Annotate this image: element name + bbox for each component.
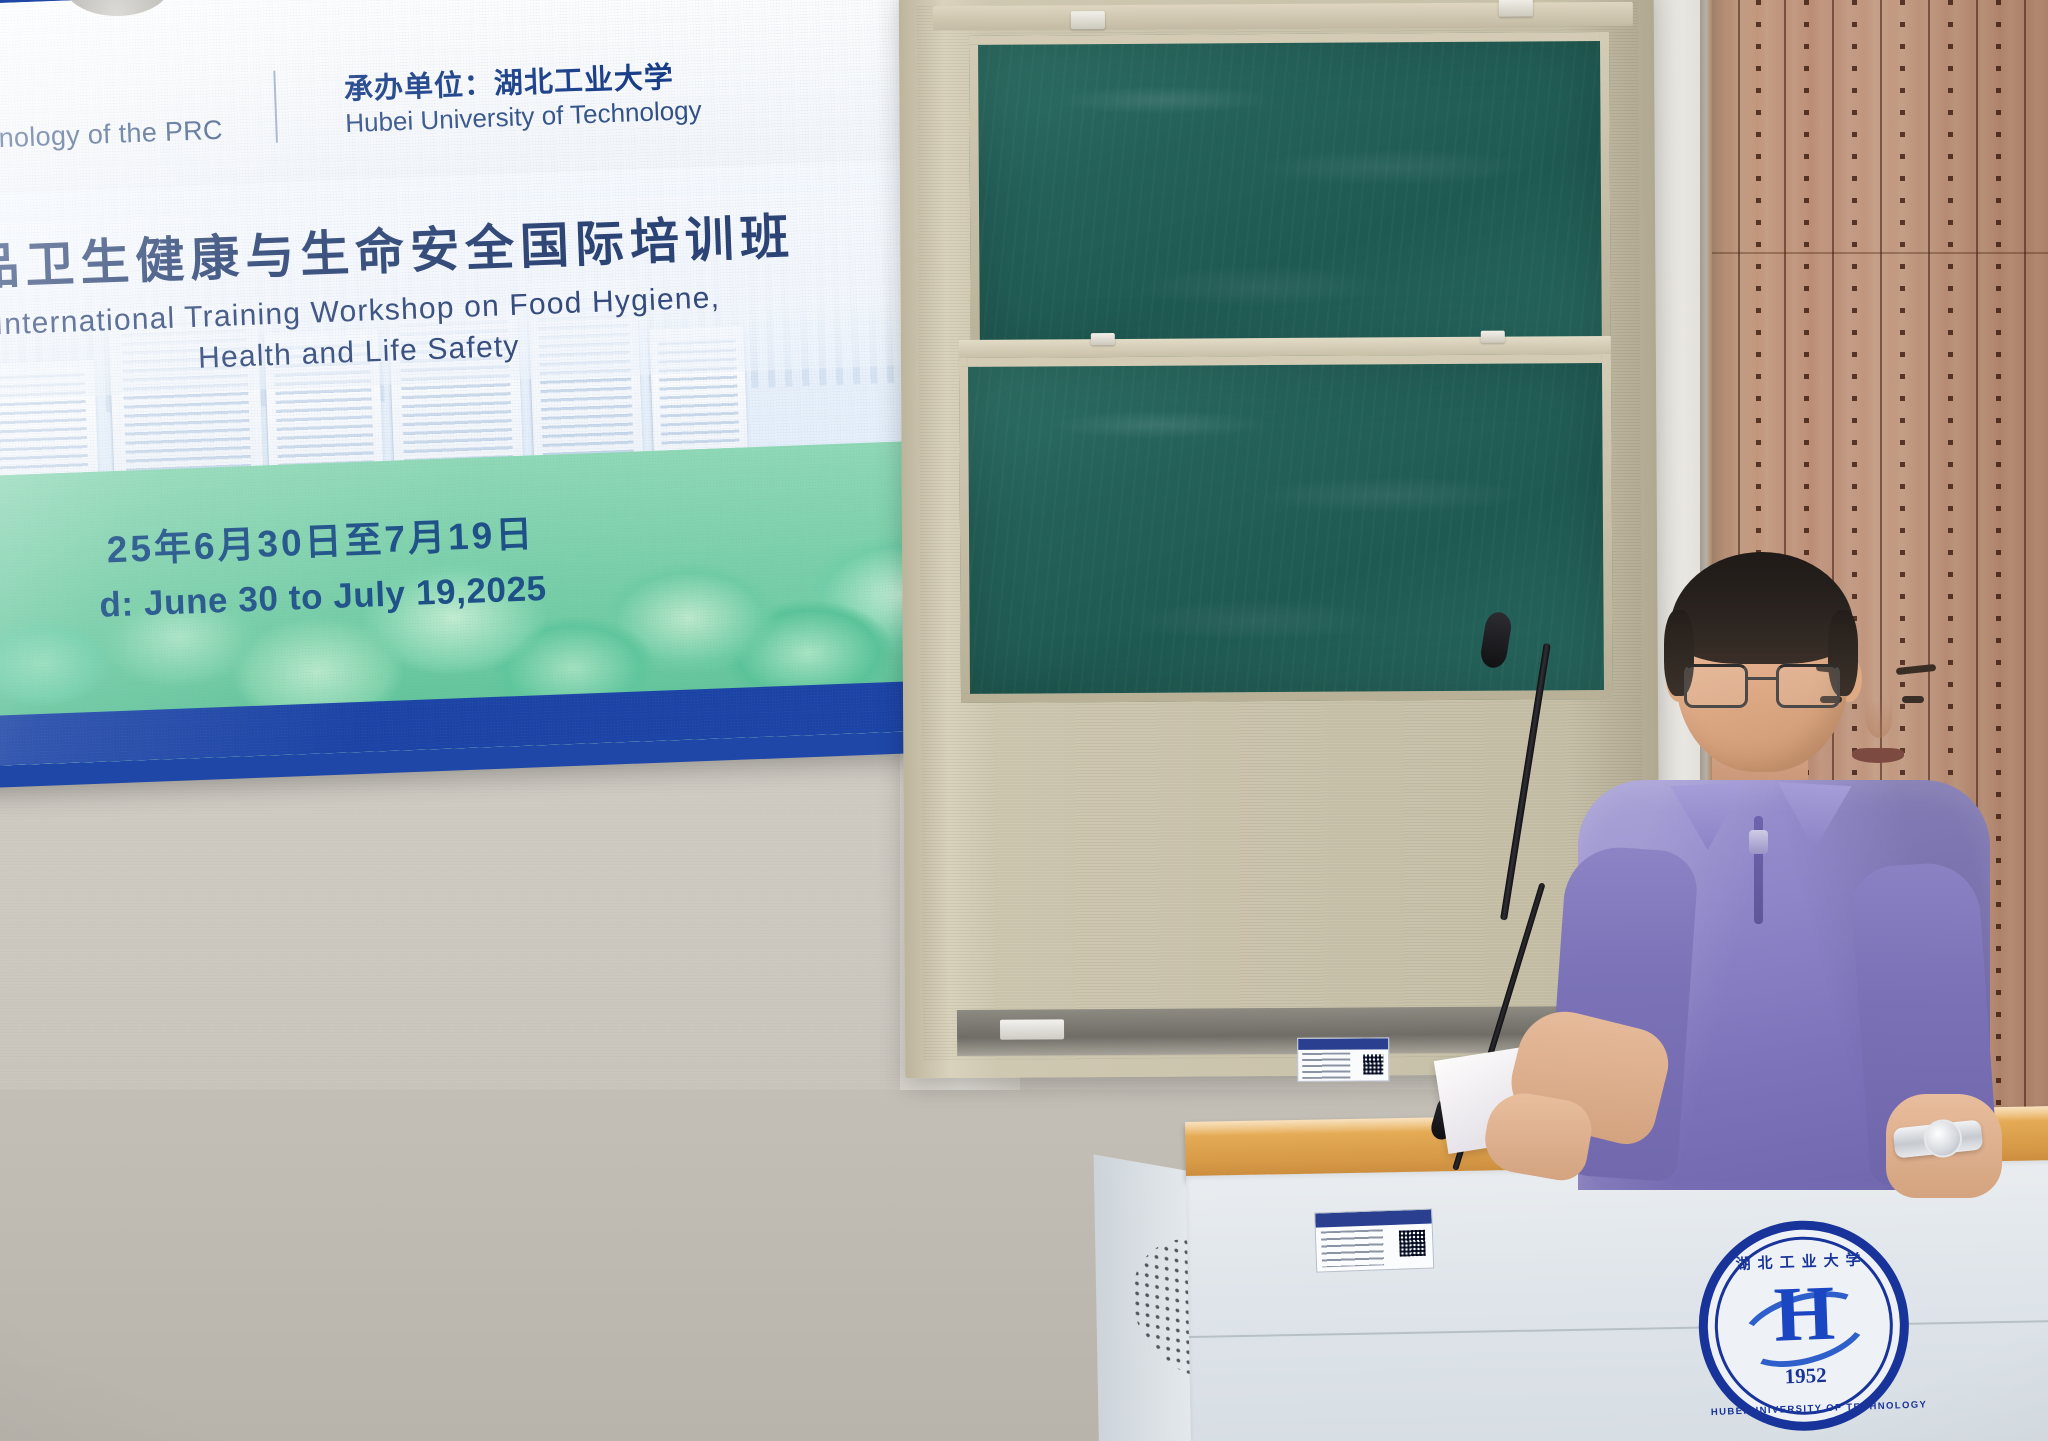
label-text-lines bbox=[1302, 1053, 1350, 1079]
hair bbox=[1670, 552, 1854, 664]
lens-right bbox=[1776, 664, 1840, 708]
label-header-band bbox=[1315, 1209, 1431, 1227]
mouth bbox=[1852, 748, 1904, 763]
eyeglasses bbox=[1684, 664, 1842, 712]
asset-inventory-label bbox=[1314, 1208, 1434, 1272]
nose bbox=[1866, 700, 1892, 738]
lower-chalkboard-panel[interactable] bbox=[959, 354, 1613, 703]
board-eraser[interactable] bbox=[1000, 1019, 1064, 1039]
qr-code-icon bbox=[1399, 1230, 1426, 1257]
label-header-band bbox=[1298, 1038, 1388, 1050]
slide-surface: f Science and Technology of the PRC 承办单位… bbox=[0, 0, 928, 767]
slide-title-block: 食品卫生健康与生命安全国际培训班 International Training … bbox=[0, 187, 914, 389]
chalk-dust bbox=[968, 363, 1604, 694]
upper-chalkboard-panel[interactable] bbox=[969, 32, 1611, 366]
seal-founding-year: 1952 bbox=[1784, 1363, 1827, 1389]
lens-left bbox=[1684, 664, 1748, 708]
organizer-left-label: f Science and Technology of the PRC bbox=[0, 115, 223, 163]
sliding-chalkboard[interactable] bbox=[899, 0, 1661, 1078]
speaker-at-podium bbox=[1560, 548, 2000, 1188]
eyebrow-right bbox=[1896, 664, 1937, 675]
conference-room-photo: f Science and Technology of the PRC 承办单位… bbox=[0, 0, 2048, 1441]
asset-inventory-label bbox=[1297, 1037, 1389, 1082]
seal-monogram: H bbox=[1772, 1268, 1834, 1360]
board-clip-left bbox=[1071, 11, 1105, 29]
zipper-pull-icon bbox=[1749, 830, 1768, 854]
board-clip-mid-right bbox=[1481, 331, 1505, 343]
board-clip-mid-left bbox=[1091, 333, 1115, 345]
projection-screen[interactable]: f Science and Technology of the PRC 承办单位… bbox=[0, 0, 929, 789]
glasses-bridge bbox=[1748, 677, 1776, 680]
qr-code-icon bbox=[1363, 1054, 1383, 1074]
header-divider bbox=[273, 71, 278, 143]
eye-right bbox=[1902, 696, 1924, 703]
chalk-dust bbox=[978, 41, 1602, 357]
lectern-panel-seam bbox=[1189, 1320, 2048, 1338]
board-clip-right bbox=[1499, 0, 1533, 17]
label-text-lines bbox=[1321, 1229, 1384, 1267]
